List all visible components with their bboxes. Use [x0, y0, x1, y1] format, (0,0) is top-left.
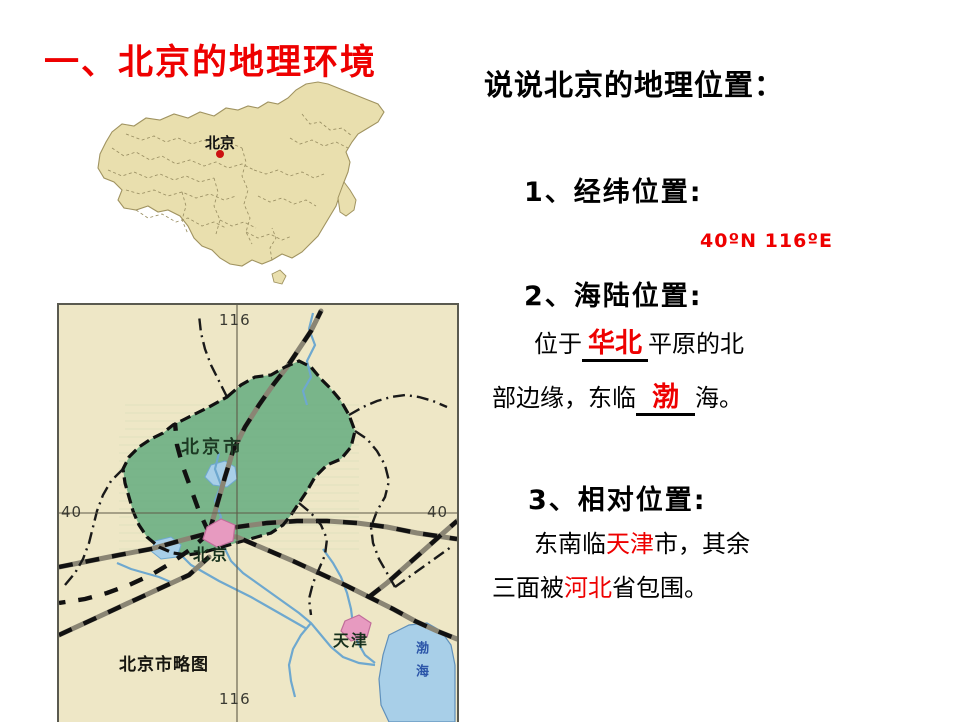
section-3-line-1: 东南临天津市，其余: [534, 530, 750, 558]
beijing-capital-dot: [216, 150, 224, 158]
section-3-line-2-suffix: 省包围。: [612, 574, 708, 602]
beijing-detail-map-graphic: [59, 305, 457, 722]
section-3-line-1-prefix: 东南临: [534, 530, 606, 558]
lesson-text-panel: 说说北京的地理位置： 1、经纬位置: 40ºN 116ºE 2、海陆位置: 位于…: [472, 62, 960, 662]
section-3-line-1-suffix: 市，其余: [654, 530, 750, 558]
question-prompt: 说说北京的地理位置：: [484, 62, 784, 104]
section-2-heading: 2、海陆位置:: [524, 274, 703, 313]
section-1-heading: 1、经纬位置:: [524, 170, 703, 209]
section-3-line-2-prefix: 三面被: [492, 574, 564, 602]
china-landmass: [98, 82, 384, 284]
bohai-sea-water: [379, 623, 455, 722]
section-3-heading: 3、相对位置:: [528, 478, 707, 517]
beijing-detail-map: 116 116 40 40 北京市 北京 天津 渤海 北京市略图: [57, 303, 459, 722]
section-3-highlight-tianjin: 天津: [606, 530, 654, 558]
coordinates-value: 40ºN 116ºE: [700, 230, 833, 252]
section-2-line-1: 位于华北平原的北: [534, 328, 744, 360]
section-2-blank-sea: 渤: [636, 382, 695, 416]
china-overview-map: [96, 78, 406, 298]
section-3-highlight-hebei: 河北: [564, 574, 612, 602]
section-2-line-2-prefix: 部边缘，东临: [492, 384, 636, 412]
section-2-line-1-prefix: 位于: [534, 330, 582, 358]
china-map-graphic: [96, 78, 406, 298]
section-2-line-1-suffix: 平原的北: [648, 330, 744, 358]
section-2-line-2: 部边缘，东临渤海。: [492, 382, 743, 414]
section-3-line-2: 三面被河北省包围。: [492, 574, 708, 602]
section-2-blank-answer: 华北: [582, 328, 648, 362]
section-2-line-2-suffix: 海。: [695, 384, 743, 412]
